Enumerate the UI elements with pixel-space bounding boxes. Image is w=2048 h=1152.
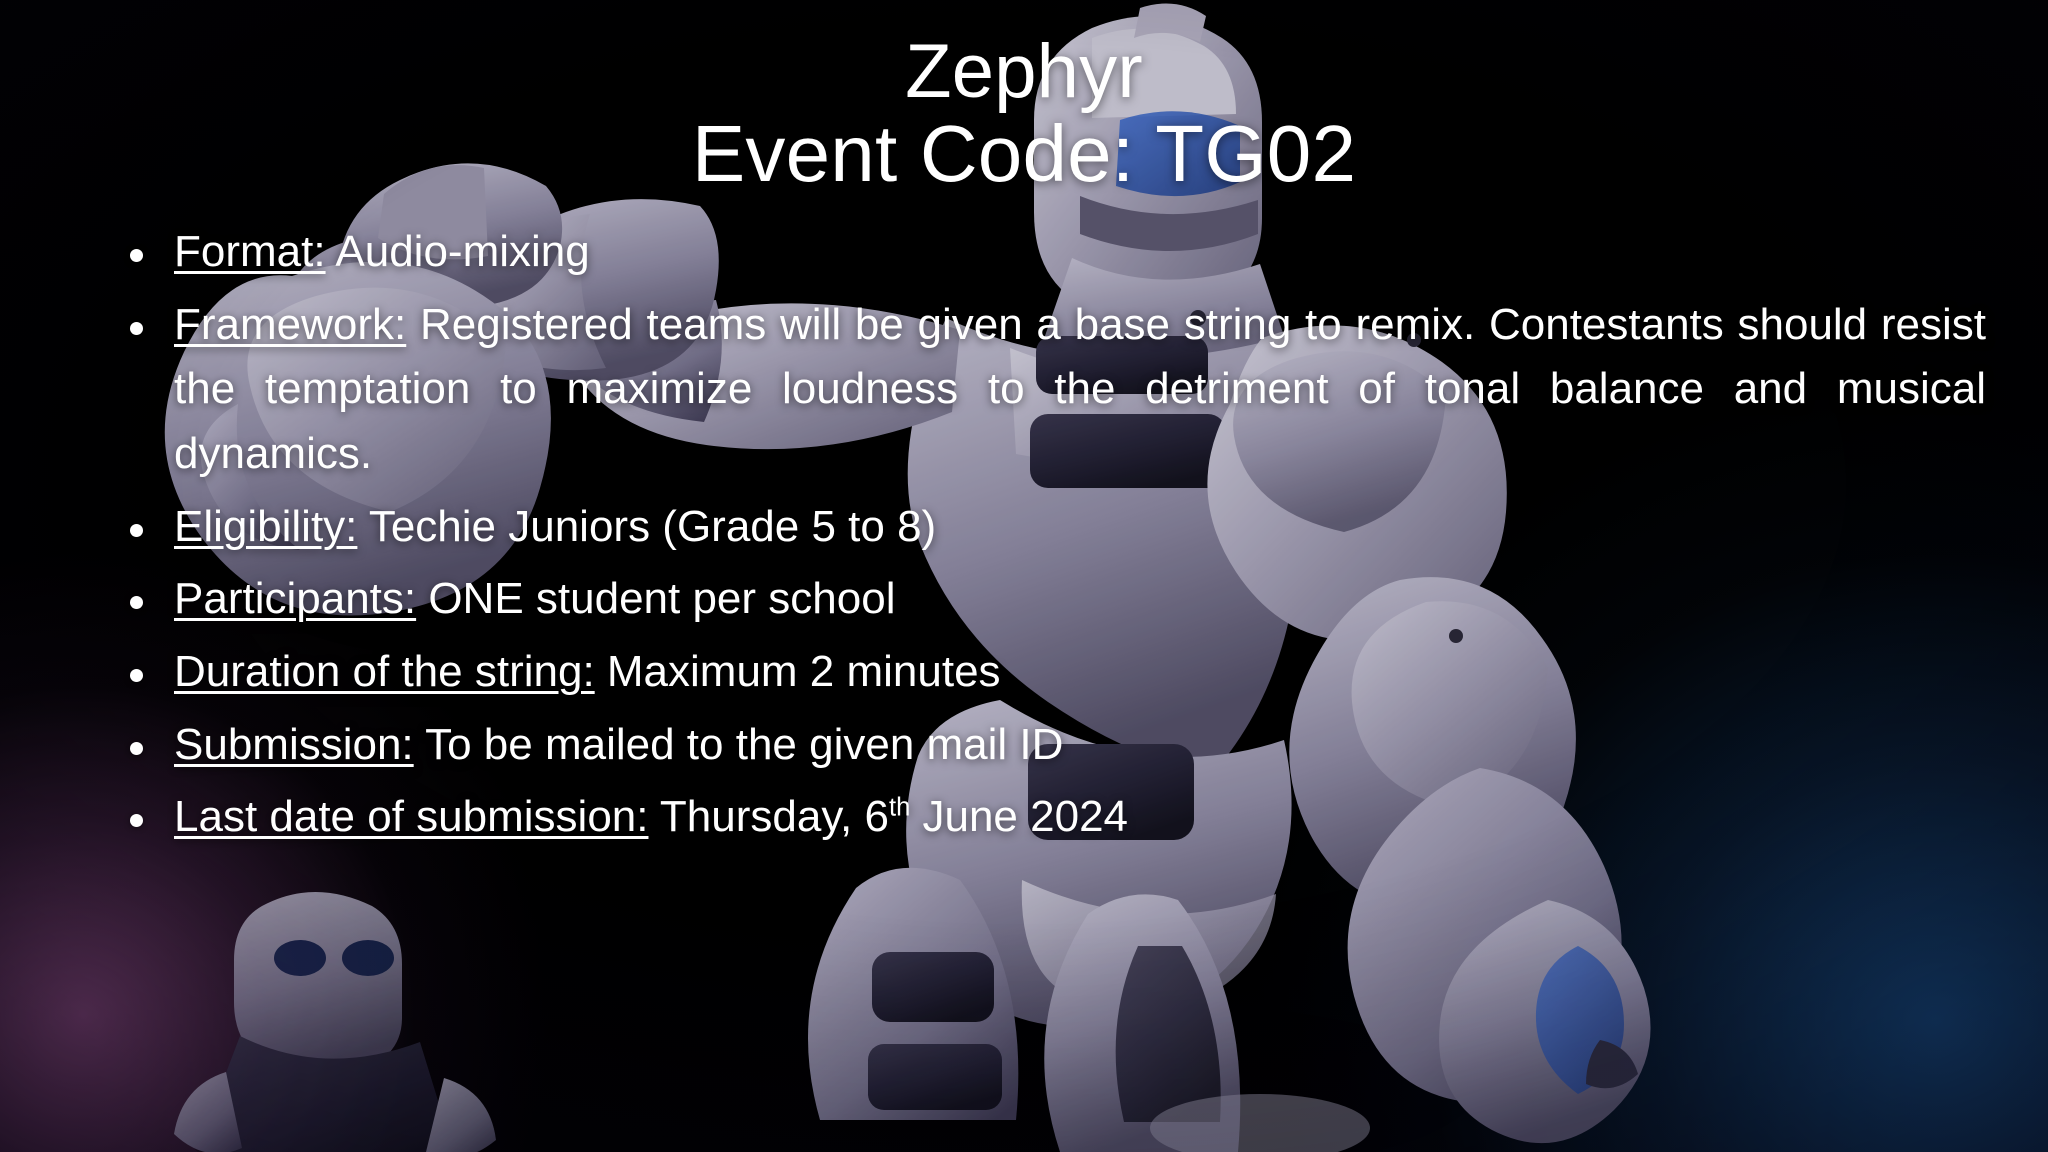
- list-item-framework: Framework: Registered teams will be give…: [174, 293, 1986, 487]
- slide-content: Zephyr Event Code: TG02 Format: Audio-mi…: [0, 0, 2048, 1152]
- bullet-text-participants: ONE student per school: [416, 574, 895, 623]
- bullet-list: Format: Audio-mixing Framework: Register…: [40, 220, 2008, 850]
- list-item-format: Format: Audio-mixing: [174, 220, 1986, 285]
- bullet-label-duration: Duration of the string:: [174, 647, 595, 696]
- list-item-submission: Submission: To be mailed to the given ma…: [174, 713, 1986, 778]
- bullet-label-format: Format:: [174, 227, 326, 276]
- list-item-eligibility: Eligibility: Techie Juniors (Grade 5 to …: [174, 495, 1986, 560]
- bullet-label-participants: Participants:: [174, 574, 416, 623]
- bullet-text-framework: Registered teams will be given a base st…: [174, 300, 1986, 478]
- bullet-text-last-date-after: June 2024: [910, 792, 1128, 841]
- list-item-last-date: Last date of submission: Thursday, 6th J…: [174, 785, 1986, 850]
- bullet-text-eligibility: Techie Juniors (Grade 5 to 8): [357, 502, 936, 551]
- bullet-label-eligibility: Eligibility:: [174, 502, 357, 551]
- bullet-label-submission: Submission:: [174, 720, 414, 769]
- list-item-participants: Participants: ONE student per school: [174, 567, 1986, 632]
- title-line-event-code: Event Code: TG02: [40, 114, 2008, 194]
- bullet-text-last-date-ordinal: th: [889, 794, 910, 822]
- bullet-text-format: Audio-mixing: [326, 227, 590, 276]
- bullet-label-last-date: Last date of submission:: [174, 792, 648, 841]
- slide-title: Zephyr Event Code: TG02: [40, 34, 2008, 194]
- presentation-slide: Zephyr Event Code: TG02 Format: Audio-mi…: [0, 0, 2048, 1152]
- title-line-event-name: Zephyr: [40, 34, 2008, 110]
- bullet-text-last-date-before: Thursday, 6: [648, 792, 889, 841]
- list-item-duration: Duration of the string: Maximum 2 minute…: [174, 640, 1986, 705]
- bullet-text-duration: Maximum 2 minutes: [595, 647, 1001, 696]
- bullet-text-submission: To be mailed to the given mail ID: [414, 720, 1064, 769]
- bullet-label-framework: Framework:: [174, 300, 406, 349]
